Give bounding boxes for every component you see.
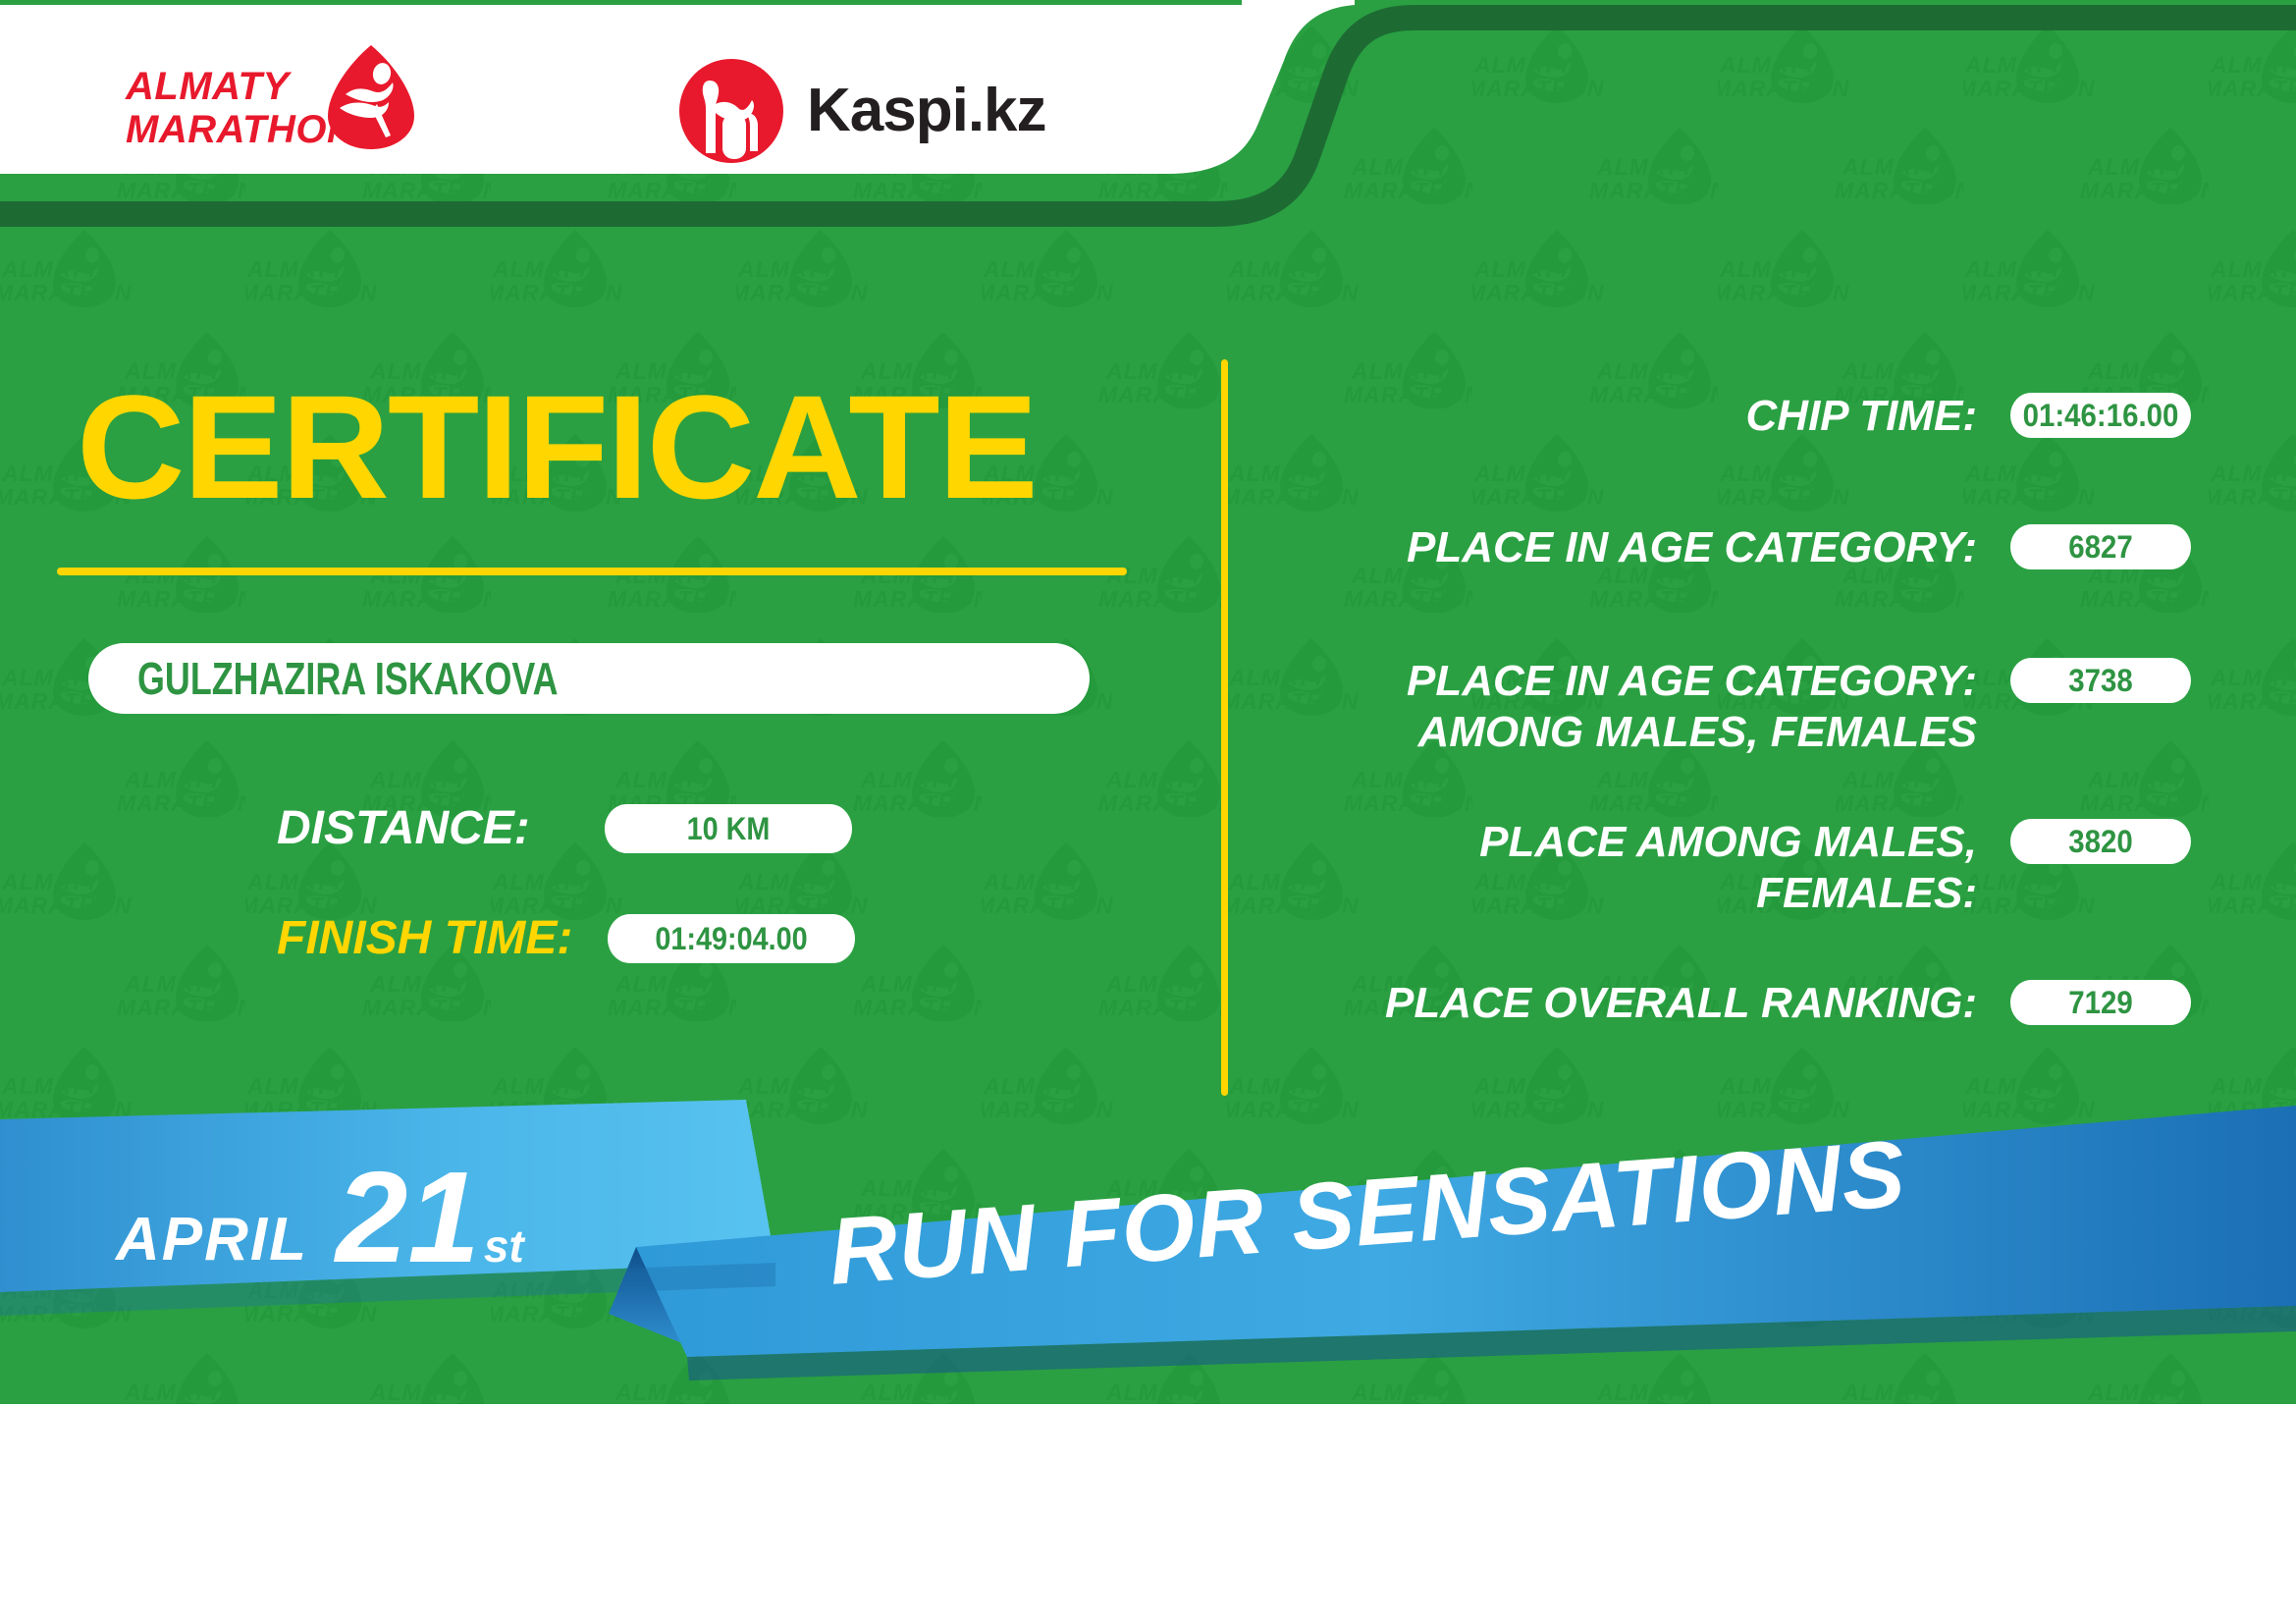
place-age-category-among-value: 3738 — [2010, 658, 2191, 703]
distance-row: DISTANCE: 10 KM — [277, 803, 866, 854]
certificate-canvas: ALMATY MARATHON Kaspi.kz CERTIFICATE GUL… — [0, 0, 2296, 1624]
stat-row-place-age-category-among: PLACE IN AGE CATEGORY: AMONG MALES, FEMA… — [1276, 656, 2199, 758]
place-overall-ranking-value: 7129 — [2010, 980, 2191, 1025]
stat-row-place-overall-ranking: PLACE OVERALL RANKING: 7129 — [1276, 978, 2199, 1029]
kaspi-logo: Kaspi.kz — [677, 57, 1046, 165]
place-age-category-among-label: PLACE IN AGE CATEGORY: AMONG MALES, FEMA… — [1276, 656, 2002, 758]
event-date: APRIL 21 st — [116, 1164, 524, 1276]
participant-name-field: GULZHAZIRA ISKAKOVA — [88, 643, 1090, 714]
finish-time-value: 01:49:04.00 — [608, 914, 855, 963]
event-day: 21 — [336, 1164, 480, 1272]
certificate-title: CERTIFICATE — [77, 373, 1037, 520]
header-top-green-stripe — [0, 0, 1242, 5]
column-divider — [1221, 359, 1228, 1096]
place-overall-ranking-label: PLACE OVERALL RANKING: — [1276, 978, 2002, 1029]
kaspi-logo-text: Kaspi.kz — [807, 81, 1046, 141]
distance-label: DISTANCE: — [277, 803, 530, 854]
participant-name-value: GULZHAZIRA ISKAKOVA — [137, 652, 559, 705]
kaspi-people-circle-icon — [677, 57, 785, 165]
chip-time-label: CHIP TIME: — [1276, 391, 2002, 442]
place-among-males-females-value: 3820 — [2010, 819, 2191, 864]
distance-value: 10 KM — [605, 804, 852, 853]
place-among-males-females-label: PLACE AMONG MALES, FEMALES: — [1276, 817, 2002, 919]
sponsors-bar: Sulpak SANOFI Empowering Life ORIFLAME S… — [0, 1404, 2296, 1624]
finish-time-label: FINISH TIME: — [277, 913, 572, 964]
runner-drop-icon — [326, 43, 416, 151]
chip-time-value: 01:46:16.00 — [2010, 393, 2191, 438]
place-age-category-value: 6827 — [2010, 524, 2191, 569]
stat-row-chip-time: CHIP TIME: 01:46:16.00 — [1276, 391, 2199, 442]
certificate-title-underline — [57, 568, 1127, 575]
stat-row-place-among-males-females: PLACE AMONG MALES, FEMALES: 3820 — [1276, 817, 2199, 919]
almaty-marathon-logo: ALMATY MARATHON — [126, 47, 420, 155]
event-month: APRIL — [116, 1205, 308, 1274]
event-day-ordinal: st — [484, 1219, 524, 1272]
place-age-category-label: PLACE IN AGE CATEGORY: — [1276, 522, 2002, 573]
stat-row-place-age-category: PLACE IN AGE CATEGORY: 6827 — [1276, 522, 2199, 573]
finish-time-row: FINISH TIME: 01:49:04.00 — [277, 913, 869, 964]
